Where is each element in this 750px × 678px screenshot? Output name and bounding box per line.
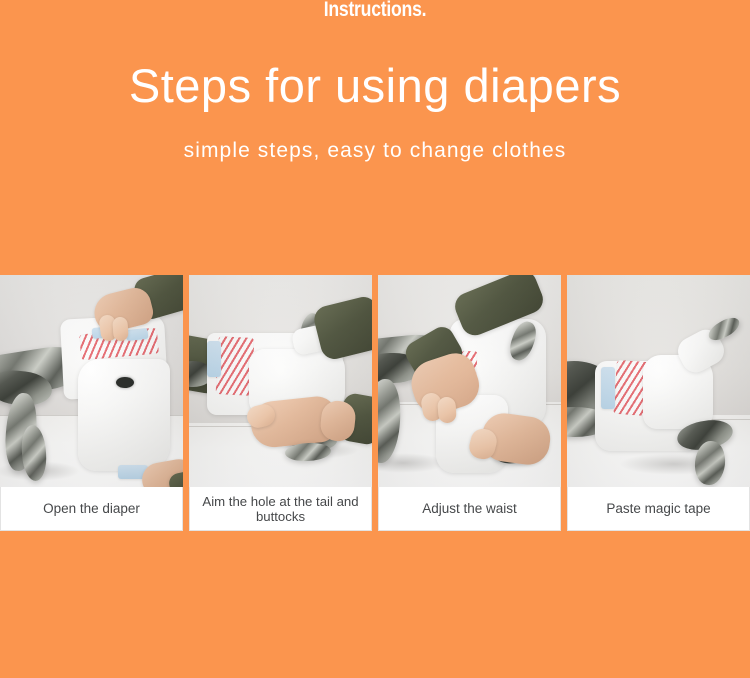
step-card-2: Aim the hole at the tail and buttocks <box>189 275 372 531</box>
step-card-3: Adjust the waist <box>378 275 561 531</box>
step-photo-4 <box>567 275 750 487</box>
step-caption-2: Aim the hole at the tail and buttocks <box>189 487 372 531</box>
step-caption-1: Open the diaper <box>0 487 183 531</box>
step-photo-1 <box>0 275 183 487</box>
page-title: Steps for using diapers <box>0 57 750 115</box>
step-photo-3 <box>378 275 561 487</box>
step-caption-4: Paste magic tape <box>567 487 750 531</box>
step-card-1: Open the diaper <box>0 275 183 531</box>
page-subtitle: simple steps, easy to change clothes <box>0 136 750 166</box>
eyebrow-label: Instructions. <box>60 0 690 24</box>
step-photo-2 <box>189 275 372 487</box>
steps-strip: Open the diaper <box>0 275 750 531</box>
instructions-page: Instructions. Steps for using diapers si… <box>0 0 750 678</box>
step-card-4: Paste magic tape <box>567 275 750 531</box>
step-caption-3: Adjust the waist <box>378 487 561 531</box>
